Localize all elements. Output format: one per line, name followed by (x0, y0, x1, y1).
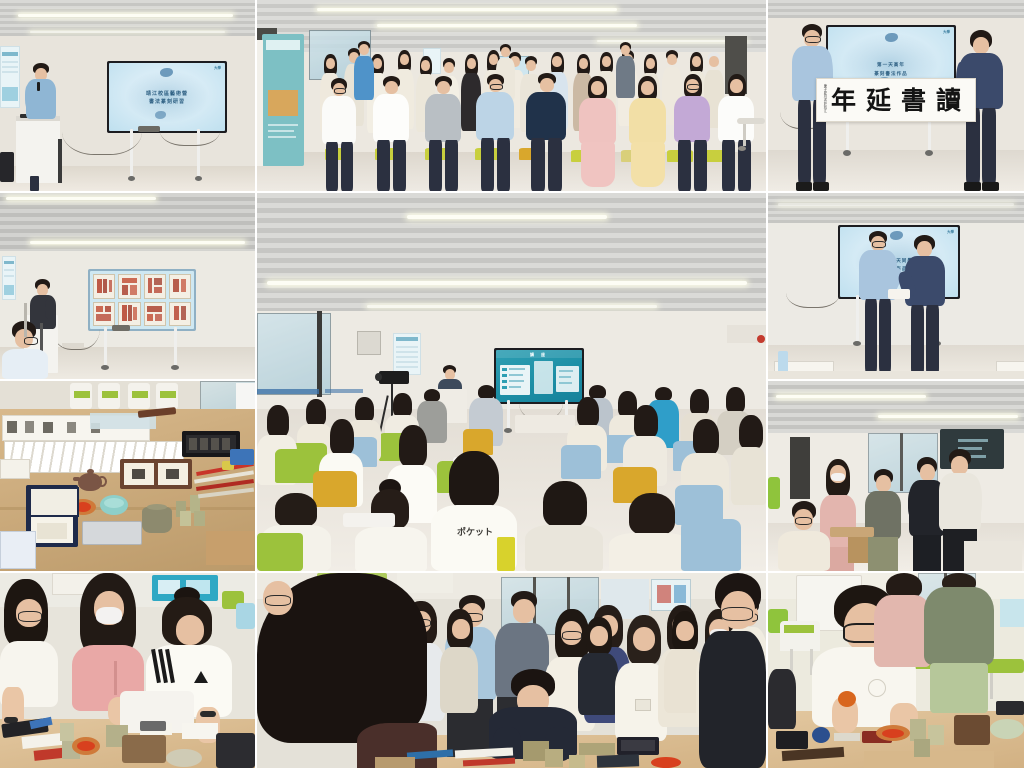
presentation-screen (88, 269, 196, 331)
person-seated (523, 73, 569, 191)
panel-calligraphy-banner[interactable]: 第一天高年 篆刻書法作品 大學 (768, 0, 1024, 191)
grid-seam (766, 0, 768, 768)
screen-title: 講 座 (496, 352, 582, 358)
grid-seam (0, 191, 256, 193)
wall-poster (0, 46, 20, 108)
grid-seam (0, 571, 1024, 573)
banner-characters: 年 延 書 讀 (831, 88, 961, 113)
shorts (930, 663, 988, 713)
stone-container (122, 735, 166, 763)
foreground-head-right (695, 573, 766, 768)
person-left (856, 231, 900, 379)
roll-up-banner (262, 34, 304, 166)
observer (439, 609, 479, 749)
panel-seal-works-lecture[interactable] (0, 193, 255, 379)
water-bottle (778, 351, 788, 373)
wooden-box (954, 715, 990, 745)
wrist-watch (200, 711, 216, 717)
camera-lens-icon (375, 373, 382, 381)
seal-thumb (169, 274, 191, 299)
seal-stone (569, 755, 585, 768)
presentation-screen: 靖江校區藝術營 書法篆刻研習 大學 (107, 61, 227, 133)
banner-char-2: 延 (866, 88, 891, 113)
knife-case (617, 737, 659, 755)
person-right (902, 235, 948, 379)
banner-char-4: 讀 (936, 88, 961, 113)
blue-notebook (230, 449, 254, 465)
round-case (812, 727, 830, 743)
audience-member-foreground (525, 481, 603, 571)
microphone (37, 82, 40, 91)
person-seated (473, 74, 517, 191)
seal-stone (579, 743, 615, 755)
person-seated (625, 76, 669, 191)
screen-title-line1: 靖江校區藝術營 (109, 90, 225, 97)
shirt-logo (868, 679, 886, 697)
seal-thumb (93, 302, 115, 327)
person-seated (422, 76, 464, 191)
panel-student-sealing[interactable] (768, 573, 1024, 768)
panel-student-practice-left[interactable] (0, 573, 255, 768)
foreground-head (257, 573, 327, 663)
person-seated (370, 76, 412, 191)
fire-alarm-icon (757, 335, 765, 343)
person-seated (715, 74, 757, 191)
student-left (0, 579, 62, 731)
phone (776, 731, 808, 749)
speaker (24, 63, 60, 123)
person-seated-foreground (778, 501, 830, 571)
speaker (28, 279, 58, 327)
panel-master-demonstration[interactable] (257, 573, 766, 768)
screen-title-line2: 書法篆刻研習 (109, 98, 225, 105)
name-tag (635, 699, 651, 711)
grid-seam (255, 0, 257, 768)
grid-seam (766, 379, 1024, 381)
person-seated (671, 74, 713, 191)
pencil-case (497, 537, 515, 571)
screen-title-line1: 第一天高年 (828, 62, 954, 68)
panel-opening-speech[interactable]: 靖江校區藝術營 書法篆刻研習 大學 (0, 0, 255, 191)
grid-seam (256, 191, 1024, 193)
wooden-table (830, 527, 874, 537)
audience-member-foreground (609, 493, 691, 571)
seal-stone (928, 725, 944, 745)
seal-stone (910, 719, 926, 741)
ink-pad-red (72, 737, 100, 755)
person-seated (575, 76, 619, 191)
ceramic-dish (166, 749, 202, 767)
photo-collage: 靖江校區藝術營 書法篆刻研習 大學 (0, 0, 1024, 768)
ink-pad-celadon (100, 495, 128, 515)
panel-hallway-discussion[interactable] (768, 381, 1024, 571)
panel-tools-display-table[interactable] (0, 381, 255, 571)
person-student (864, 469, 902, 571)
ceramic-dish (990, 719, 1024, 739)
person-seated (319, 78, 359, 191)
banner-char-1: 年 (831, 88, 856, 113)
banner-char-3: 書 (901, 88, 926, 113)
framed-seal-impressions (120, 459, 192, 489)
podium (16, 119, 60, 183)
seal-thumb (169, 302, 191, 327)
seal-thumb (144, 274, 166, 299)
grid-seam (0, 379, 256, 381)
metal-tray (82, 521, 142, 545)
clay-teapot (78, 473, 102, 491)
audience-member (731, 415, 766, 503)
calligraphy-banner: 庚子夏月書於靖江 年 延 書 讀 (816, 78, 976, 122)
seal-stone (914, 739, 930, 757)
screen-title-line2: 篆刻書法作品 (828, 71, 954, 77)
seal-thumb (93, 274, 115, 299)
seal-thumb (144, 302, 166, 327)
panel-lecture-hall[interactable]: 講 座 (257, 193, 766, 571)
background-person (924, 573, 998, 733)
stone-jar (142, 507, 172, 533)
stacked-paper (0, 531, 36, 569)
panel-certificate-handshake[interactable]: 第一天同學 篆刻作品展 大學 (768, 193, 1024, 379)
seal-thumb (118, 302, 140, 327)
seal-stone (545, 749, 563, 767)
seal-stone (180, 511, 191, 526)
banner-inscription: 庚子夏月書於靖江 (822, 84, 827, 113)
presentation-screen: 講 座 (494, 348, 584, 404)
screen-logo: 大學 (214, 66, 221, 71)
certificate (888, 289, 910, 299)
ink-pad-red (876, 725, 910, 741)
panel-group-photo[interactable] (257, 0, 766, 191)
ink-pad-red (651, 757, 681, 768)
ink-stone (140, 721, 166, 731)
black-case (216, 733, 255, 768)
seal-thumb (118, 274, 140, 299)
seal-stone (194, 511, 205, 526)
doorway (790, 437, 810, 499)
seal-stone (60, 723, 74, 741)
seal-in-hand (838, 691, 856, 707)
